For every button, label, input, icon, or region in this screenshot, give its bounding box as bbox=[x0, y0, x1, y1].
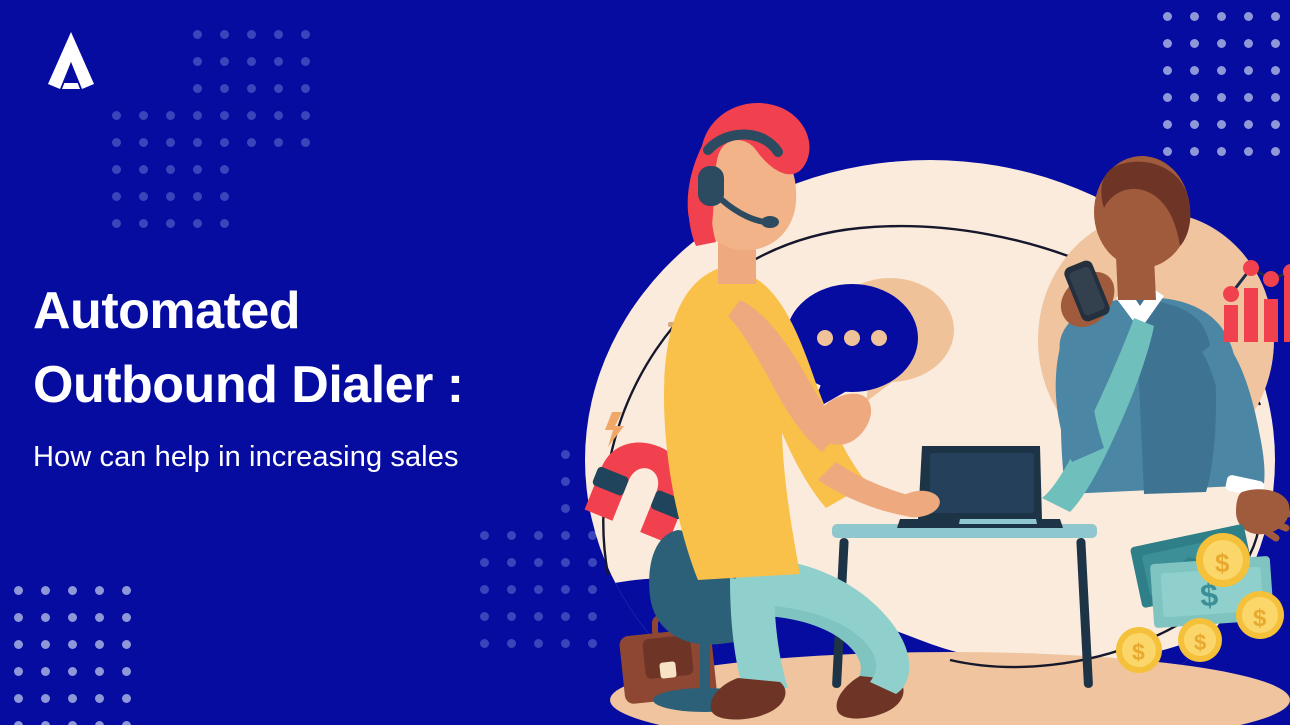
decor-dot bbox=[166, 219, 175, 228]
decor-dot bbox=[112, 30, 121, 39]
decor-dot bbox=[41, 721, 50, 725]
decor-dot bbox=[139, 57, 148, 66]
decor-dot bbox=[301, 138, 310, 147]
decor-dot bbox=[139, 138, 148, 147]
decor-dot bbox=[139, 111, 148, 120]
decor-dot bbox=[166, 57, 175, 66]
svg-text:$: $ bbox=[1215, 548, 1230, 578]
decor-dot bbox=[122, 694, 131, 703]
decor-dot bbox=[301, 165, 310, 174]
decor-dot bbox=[95, 586, 104, 595]
decor-dot bbox=[220, 138, 229, 147]
decor-dot bbox=[14, 721, 23, 725]
decor-dot bbox=[507, 585, 516, 594]
decor-dot bbox=[166, 84, 175, 93]
decor-dot bbox=[534, 585, 543, 594]
decor-dot bbox=[507, 531, 516, 540]
decor-dot bbox=[112, 111, 121, 120]
decor-dot bbox=[112, 165, 121, 174]
decor-dot bbox=[480, 504, 489, 513]
decor-dot bbox=[14, 640, 23, 649]
decor-dot bbox=[534, 531, 543, 540]
decor-dot bbox=[112, 138, 121, 147]
top-left-dot-grid bbox=[112, 30, 328, 246]
decor-dot bbox=[68, 640, 77, 649]
decor-dot bbox=[247, 57, 256, 66]
decor-dot bbox=[220, 219, 229, 228]
decor-dot bbox=[274, 84, 283, 93]
svg-text:$: $ bbox=[1132, 639, 1145, 665]
decor-dot bbox=[247, 30, 256, 39]
decor-dot bbox=[41, 640, 50, 649]
decor-dot bbox=[68, 721, 77, 725]
decor-dot bbox=[480, 585, 489, 594]
decor-dot bbox=[480, 558, 489, 567]
decor-dot bbox=[193, 84, 202, 93]
decor-dot bbox=[41, 667, 50, 676]
decor-dot bbox=[507, 477, 516, 486]
decor-dot bbox=[193, 219, 202, 228]
decor-dot bbox=[301, 57, 310, 66]
decor-dot bbox=[220, 165, 229, 174]
hero-banner: Automated Outbound Dialer : How can help… bbox=[0, 0, 1290, 725]
decor-dot bbox=[68, 586, 77, 595]
decor-dot bbox=[193, 57, 202, 66]
decor-dot bbox=[112, 219, 121, 228]
decor-dot bbox=[139, 84, 148, 93]
decor-dot bbox=[95, 694, 104, 703]
decor-dot bbox=[95, 721, 104, 725]
decor-dot bbox=[68, 694, 77, 703]
decor-dot bbox=[220, 57, 229, 66]
decor-dot bbox=[139, 165, 148, 174]
decor-dot bbox=[274, 219, 283, 228]
decor-dot bbox=[301, 219, 310, 228]
decor-dot bbox=[193, 165, 202, 174]
decor-dot bbox=[122, 640, 131, 649]
decor-dot bbox=[166, 111, 175, 120]
decor-dot bbox=[301, 30, 310, 39]
decor-dot bbox=[220, 111, 229, 120]
decor-dot bbox=[247, 84, 256, 93]
decor-dot bbox=[507, 612, 516, 621]
decor-dot bbox=[112, 84, 121, 93]
decor-dot bbox=[220, 84, 229, 93]
decor-dot bbox=[274, 192, 283, 201]
decor-dot bbox=[95, 640, 104, 649]
decor-dot bbox=[534, 639, 543, 648]
decor-dot bbox=[122, 586, 131, 595]
decor-dot bbox=[534, 558, 543, 567]
decor-dot bbox=[95, 613, 104, 622]
decor-dot bbox=[274, 138, 283, 147]
decor-dot bbox=[247, 138, 256, 147]
decor-dot bbox=[480, 612, 489, 621]
decor-dot bbox=[274, 111, 283, 120]
decor-dot bbox=[274, 57, 283, 66]
decor-dot bbox=[14, 613, 23, 622]
decor-dot bbox=[247, 219, 256, 228]
decor-dot bbox=[41, 694, 50, 703]
decor-dot bbox=[480, 639, 489, 648]
decor-dot bbox=[166, 192, 175, 201]
decor-dot bbox=[166, 165, 175, 174]
decor-dot bbox=[122, 721, 131, 725]
decor-dot bbox=[247, 192, 256, 201]
decor-dot bbox=[68, 613, 77, 622]
decor-dot bbox=[139, 192, 148, 201]
decor-dot bbox=[122, 613, 131, 622]
decor-dot bbox=[122, 667, 131, 676]
call-center-sales-illustration: $ $ $ $ $ $ bbox=[560, 0, 1290, 725]
brand-logo-icon[interactable] bbox=[46, 32, 96, 90]
decor-dot bbox=[166, 138, 175, 147]
decor-dot bbox=[166, 30, 175, 39]
decor-dot bbox=[220, 30, 229, 39]
decor-dot bbox=[534, 612, 543, 621]
decor-dot bbox=[41, 613, 50, 622]
decor-dot bbox=[301, 192, 310, 201]
decor-dot bbox=[301, 84, 310, 93]
decor-dot bbox=[193, 111, 202, 120]
decor-dot bbox=[534, 504, 543, 513]
decor-dot bbox=[534, 477, 543, 486]
decor-dot bbox=[139, 219, 148, 228]
decor-dot bbox=[68, 667, 77, 676]
decor-dot bbox=[193, 138, 202, 147]
decor-dot bbox=[14, 667, 23, 676]
decor-dot bbox=[41, 586, 50, 595]
decor-dot bbox=[247, 165, 256, 174]
decor-dot bbox=[220, 192, 229, 201]
decor-dot bbox=[139, 30, 148, 39]
decor-dot bbox=[14, 586, 23, 595]
decor-dot bbox=[507, 504, 516, 513]
decor-dot bbox=[480, 477, 489, 486]
decor-dot bbox=[247, 111, 256, 120]
bottom-left-dot-grid bbox=[14, 586, 149, 725]
decor-dot bbox=[14, 694, 23, 703]
decor-dot bbox=[193, 30, 202, 39]
decor-dot bbox=[274, 165, 283, 174]
decor-dot bbox=[112, 57, 121, 66]
decor-dot bbox=[193, 192, 202, 201]
decor-dot bbox=[507, 558, 516, 567]
decor-dot bbox=[301, 111, 310, 120]
svg-text:$: $ bbox=[1253, 605, 1267, 632]
svg-text:$: $ bbox=[1194, 630, 1206, 655]
decor-dot bbox=[507, 639, 516, 648]
decor-dot bbox=[274, 30, 283, 39]
decor-dot bbox=[480, 531, 489, 540]
decor-dot bbox=[112, 192, 121, 201]
decor-dot bbox=[95, 667, 104, 676]
